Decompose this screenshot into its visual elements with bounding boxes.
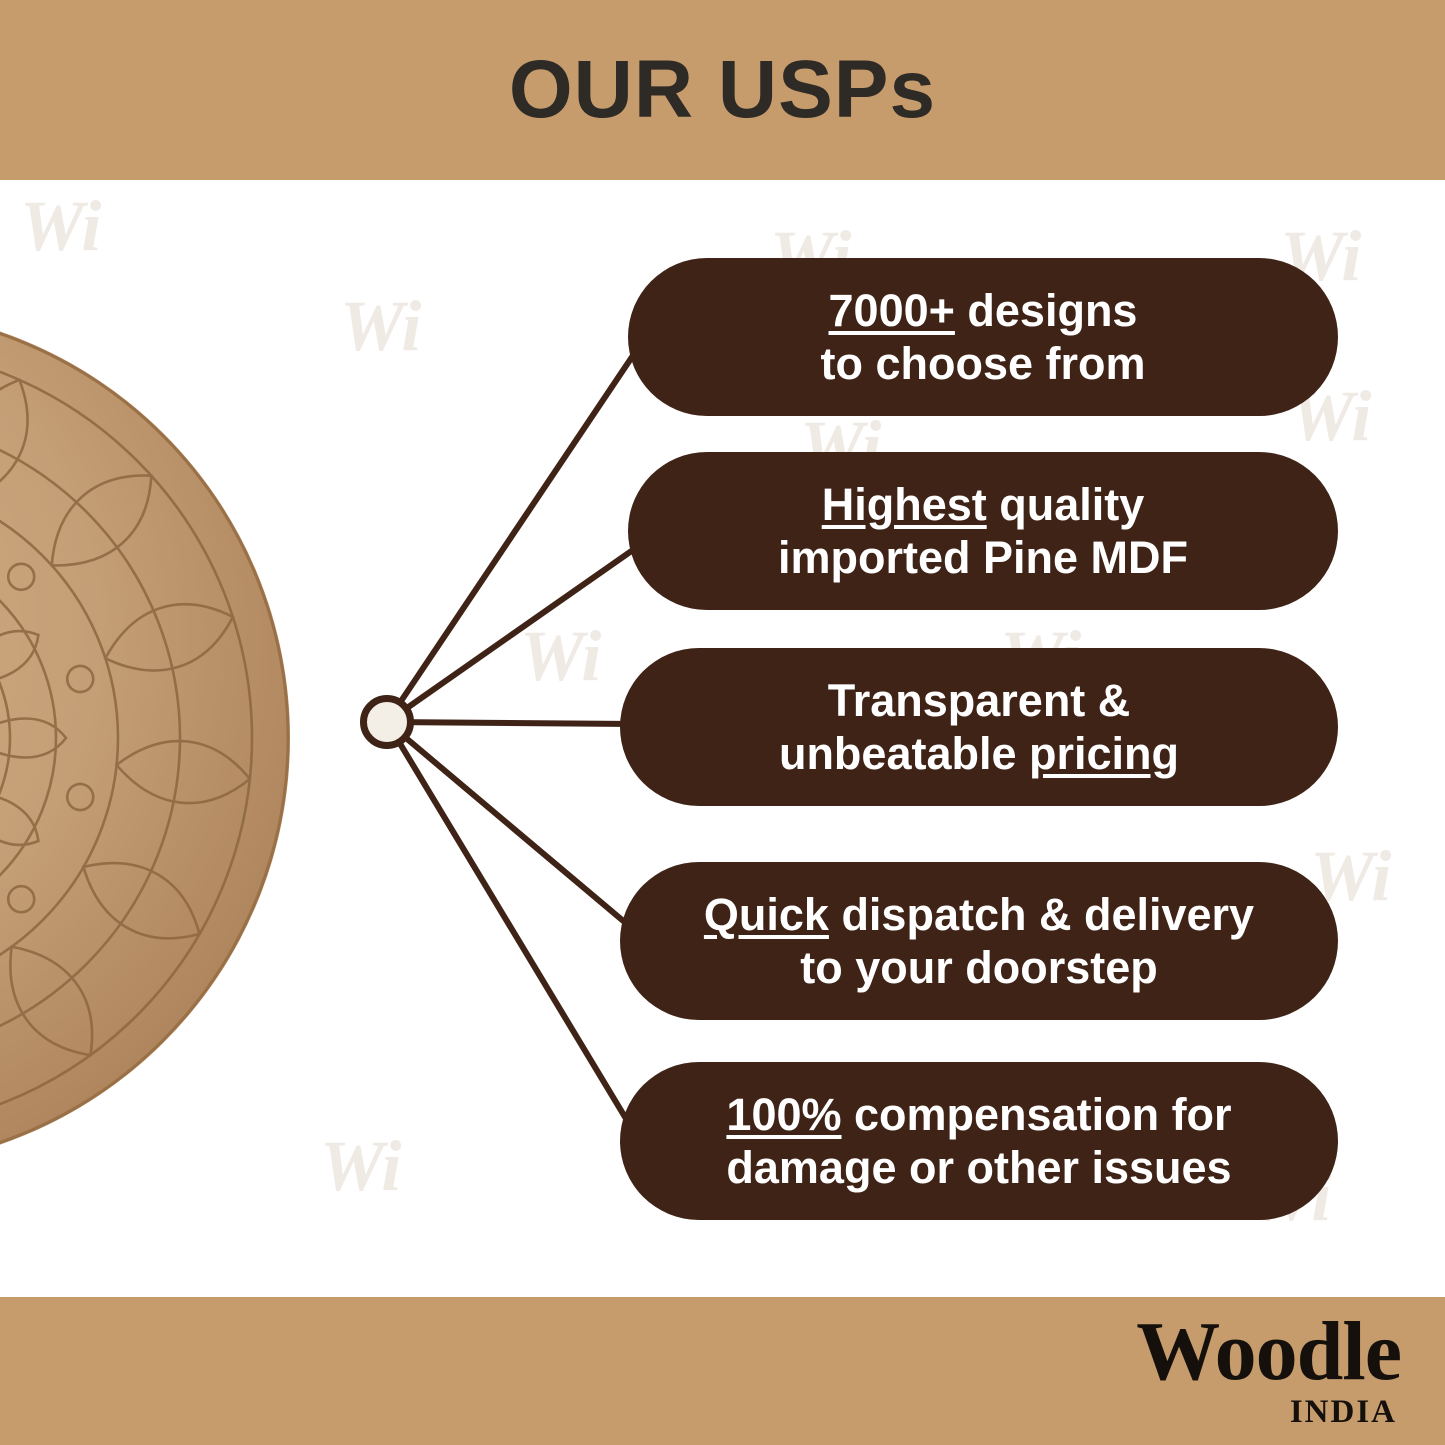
usp-line-2: damage or other issues [726, 1141, 1231, 1194]
brand-logo: Woodle INDIA [1136, 1312, 1401, 1431]
usp-highlight: Quick [704, 889, 829, 940]
usp-line-2: unbeatable pricing [779, 727, 1179, 780]
page-title: OUR USPs [0, 0, 1445, 180]
usp-item-quality: Highest quality imported Pine MDF [628, 452, 1338, 610]
usp-highlight: 100% [726, 1089, 841, 1140]
usp-line-1: 7000+ designs [829, 284, 1138, 337]
usp-line-1: Quick dispatch & delivery [704, 888, 1254, 941]
watermark-text: Wi [20, 190, 101, 262]
usp-line-1-rest: designs [955, 285, 1138, 336]
usp-line-1-rest: dispatch & delivery [829, 889, 1254, 940]
usp-item-pricing: Transparent & unbeatable pricing [620, 648, 1338, 806]
usp-line-2: to choose from [820, 337, 1145, 390]
usp-line-2: imported Pine MDF [778, 531, 1188, 584]
hub-node [360, 695, 414, 749]
usp-line-1-rest: quality [987, 479, 1145, 530]
usp-line-1: Highest quality [822, 478, 1145, 531]
usp-item-dispatch: Quick dispatch & delivery to your doorst… [620, 862, 1338, 1020]
usp-item-designs: 7000+ designs to choose from [628, 258, 1338, 416]
watermark-text: Wi [520, 620, 601, 692]
usp-highlight: Highest [822, 479, 987, 530]
brand-subtitle: INDIA [1136, 1394, 1397, 1431]
usp-highlight: pricing [1029, 728, 1179, 779]
usp-line-2: to your doorstep [800, 941, 1158, 994]
usp-line-1: 100% compensation for [726, 1088, 1231, 1141]
usp-line-1-rest: compensation for [842, 1089, 1232, 1140]
brand-name: Woodle [1136, 1312, 1401, 1392]
usp-item-compensation: 100% compensation for damage or other is… [620, 1062, 1338, 1220]
mdf-mandala-disc-image [0, 298, 440, 1198]
usp-line-1: Transparent & [828, 674, 1131, 727]
usp-highlight: 7000+ [829, 285, 955, 336]
usp-line-2-pre: unbeatable [779, 728, 1029, 779]
usp-poster: OUR USPs Wi Wi Wi Wi Wi Wi Wi Wi Wi Wi W… [0, 0, 1445, 1445]
